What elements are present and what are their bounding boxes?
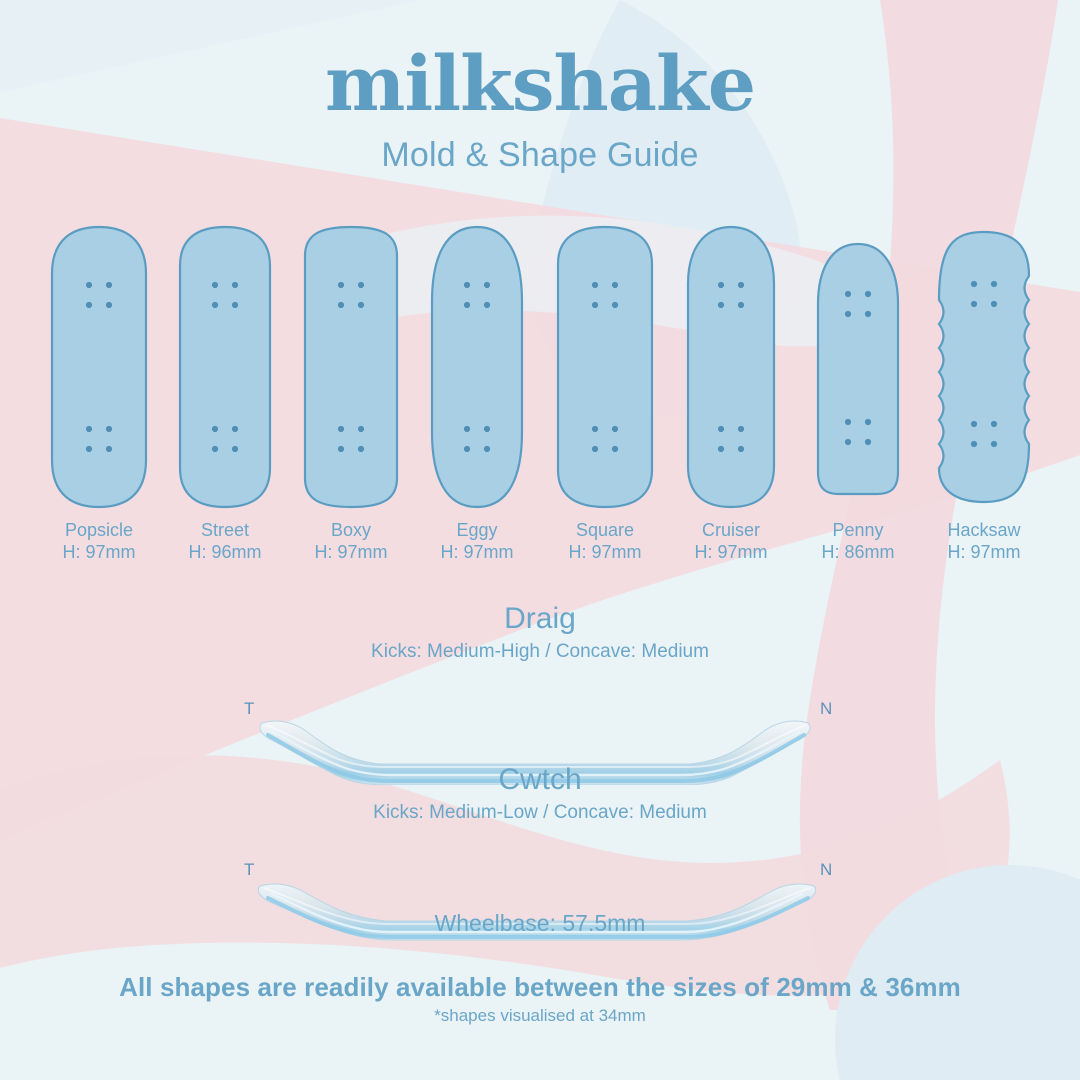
shape-card-boxy[interactable]: Boxy H: 97mm <box>286 222 416 512</box>
deck-penny-icon <box>793 222 923 512</box>
shape-card-eggy[interactable]: Eggy H: 97mm <box>412 222 542 512</box>
shape-label-boxy: Boxy <box>286 520 416 541</box>
shape-label-square: Square <box>540 520 670 541</box>
shape-height-boxy: H: 97mm <box>286 542 416 563</box>
shape-label-eggy: Eggy <box>412 520 542 541</box>
shape-card-penny[interactable]: Penny H: 86mm <box>793 222 923 512</box>
profile-name-draig: Draig <box>0 602 1080 635</box>
shape-card-hacksaw[interactable]: Hacksaw H: 97mm <box>919 222 1049 512</box>
brand-title: milkshake <box>0 46 1080 122</box>
deck-boxy-icon <box>286 222 416 512</box>
availability-text: All shapes are readily available between… <box>0 972 1080 1003</box>
shape-height-cruiser: H: 97mm <box>666 542 796 563</box>
shape-card-popsicle[interactable]: Popsicle H: 97mm <box>34 222 164 512</box>
profile-section-draig: Draig Kicks: Medium-High / Concave: Medi… <box>0 602 1080 785</box>
profile-name-cwtch: Cwtch <box>0 763 1080 796</box>
deck-square-icon <box>540 222 670 512</box>
shape-label-penny: Penny <box>793 520 923 541</box>
shape-height-square: H: 97mm <box>540 542 670 563</box>
profile-spec-draig: Kicks: Medium-High / Concave: Medium <box>0 641 1080 663</box>
deck-street-icon <box>160 222 290 512</box>
wheelbase-text: Wheelbase: 57.5mm <box>0 910 1080 937</box>
shape-height-popsicle: H: 97mm <box>34 542 164 563</box>
shape-height-penny: H: 86mm <box>793 542 923 563</box>
poster-header: milkshake Mold & Shape Guide <box>0 46 1080 175</box>
page-subtitle: Mold & Shape Guide <box>0 136 1080 175</box>
visualised-note: *shapes visualised at 34mm <box>0 1006 1080 1026</box>
deck-popsicle-icon <box>34 222 164 512</box>
shape-label-street: Street <box>160 520 290 541</box>
shape-label-hacksaw: Hacksaw <box>919 520 1049 541</box>
deck-hacksaw-icon <box>919 222 1049 512</box>
profile-spec-cwtch: Kicks: Medium-Low / Concave: Medium <box>0 802 1080 824</box>
shape-card-square[interactable]: Square H: 97mm <box>540 222 670 512</box>
shape-card-street[interactable]: Street H: 96mm <box>160 222 290 512</box>
deck-eggy-icon <box>412 222 542 512</box>
shape-label-popsicle: Popsicle <box>34 520 164 541</box>
shape-height-street: H: 96mm <box>160 542 290 563</box>
shape-height-hacksaw: H: 97mm <box>919 542 1049 563</box>
infographic-poster: milkshake Mold & Shape Guide Popsicle H:… <box>0 0 1080 1080</box>
shape-card-cruiser[interactable]: Cruiser H: 97mm <box>666 222 796 512</box>
shape-height-eggy: H: 97mm <box>412 542 542 563</box>
shape-gallery: Popsicle H: 97mm Street H: 96mm <box>0 222 1080 582</box>
deck-cruiser-icon <box>666 222 796 512</box>
shape-label-cruiser: Cruiser <box>666 520 796 541</box>
